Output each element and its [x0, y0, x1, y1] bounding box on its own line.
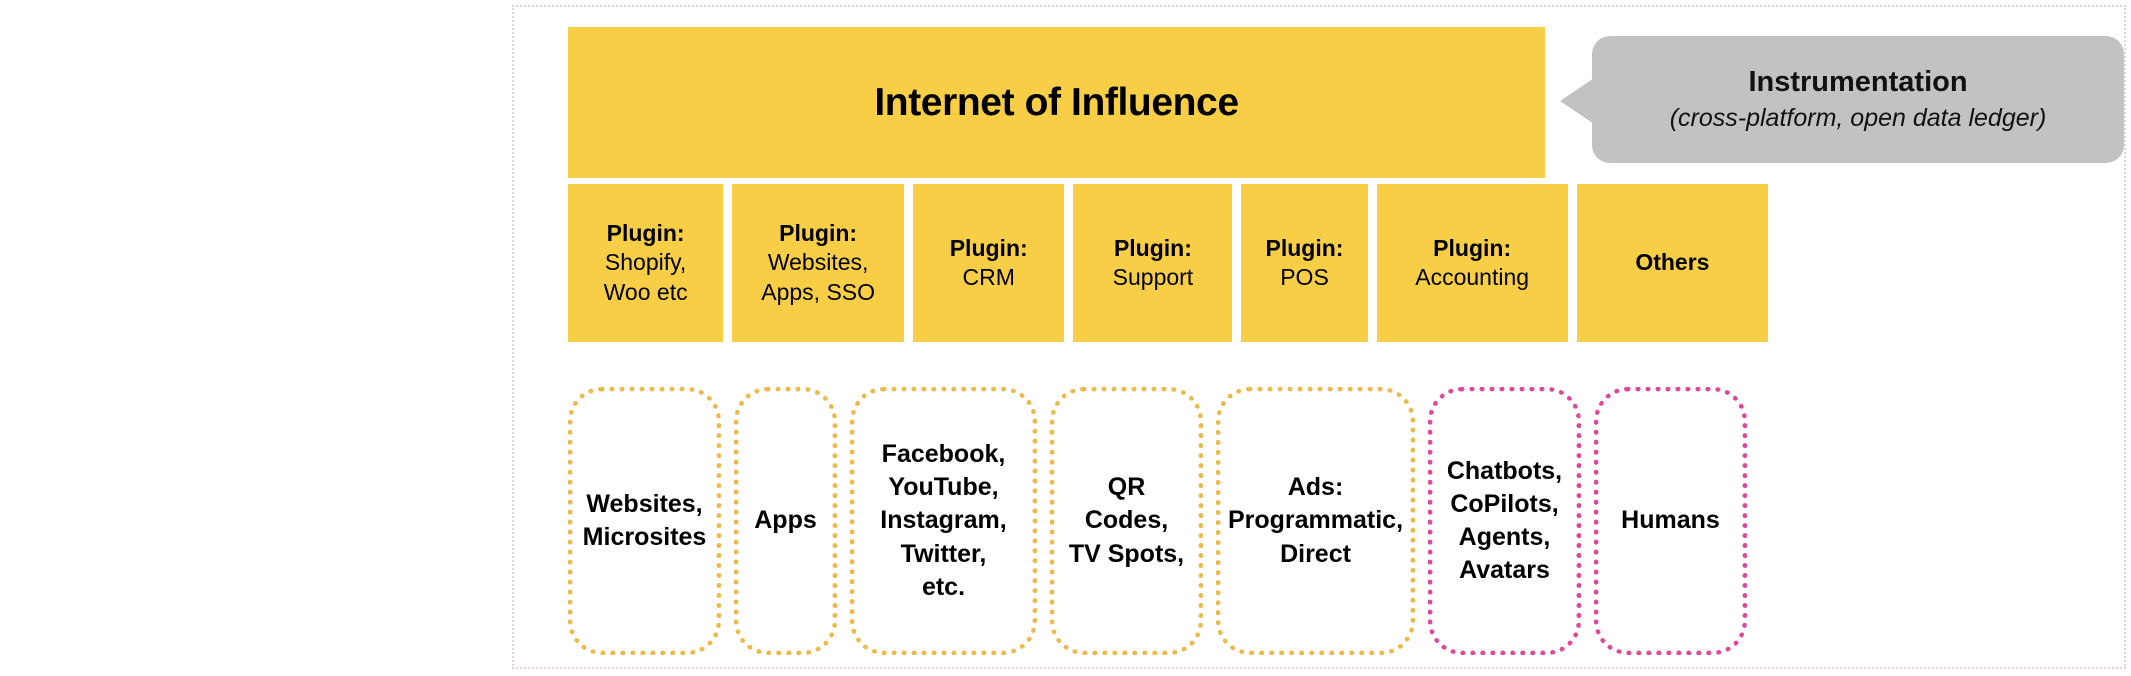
- plugin-card-shopify[interactable]: Plugin: Shopify, Woo etc: [568, 184, 723, 342]
- channel-card-humans[interactable]: Humans: [1594, 387, 1747, 655]
- plugin-card-detail: CRM: [962, 263, 1014, 292]
- channel-card-label: Humans: [1621, 504, 1720, 537]
- channel-card-label: Facebook, YouTube, Instagram, Twitter, e…: [880, 438, 1006, 604]
- plugin-card-kicker: Plugin:: [950, 234, 1028, 263]
- plugin-card-others[interactable]: Others: [1577, 184, 1768, 342]
- plugin-card-kicker: Plugin:: [1114, 234, 1192, 263]
- plugin-card-crm[interactable]: Plugin: CRM: [913, 184, 1064, 342]
- plugin-card-pos[interactable]: Plugin: POS: [1241, 184, 1367, 342]
- callout-body: Instrumentation (cross-platform, open da…: [1592, 36, 2124, 163]
- plugin-card-detail: Accounting: [1415, 263, 1529, 292]
- plugin-card-kicker: Plugin:: [607, 219, 685, 248]
- diagram-outer-frame: Internet of Influence Instrumentation (c…: [512, 5, 2126, 669]
- channel-card-label: Apps: [754, 504, 817, 537]
- channel-card-label: Ads: Programmatic, Direct: [1228, 471, 1403, 571]
- channel-card-apps[interactable]: Apps: [734, 387, 837, 655]
- callout-title: Instrumentation: [1748, 66, 1967, 99]
- page-title: Internet of Influence: [874, 83, 1238, 122]
- plugin-card-kicker: Plugin:: [1433, 234, 1511, 263]
- plugin-card-kicker: Plugin:: [779, 219, 857, 248]
- channel-card-label: QR Codes, TV Spots,: [1065, 471, 1188, 571]
- channel-card-label: Chatbots, CoPilots, Agents, Avatars: [1447, 455, 1562, 588]
- channel-card-qr-tv[interactable]: QR Codes, TV Spots,: [1050, 387, 1203, 655]
- channel-card-chatbots-agents[interactable]: Chatbots, CoPilots, Agents, Avatars: [1428, 387, 1581, 655]
- plugin-row: Plugin: Shopify, Woo etc Plugin: Website…: [568, 184, 1768, 342]
- channel-card-websites-microsites[interactable]: Websites, Microsites: [568, 387, 721, 655]
- plugin-card-kicker: Plugin:: [1266, 234, 1344, 263]
- internet-of-influence-banner: Internet of Influence: [568, 27, 1545, 178]
- plugin-card-support[interactable]: Plugin: Support: [1073, 184, 1232, 342]
- channel-card-ads[interactable]: Ads: Programmatic, Direct: [1216, 387, 1415, 655]
- plugin-card-kicker: Others: [1635, 248, 1709, 277]
- channel-card-label: Websites, Microsites: [583, 488, 707, 555]
- plugin-card-websites-apps-sso[interactable]: Plugin: Websites, Apps, SSO: [732, 184, 904, 342]
- plugin-card-detail: Shopify, Woo etc: [604, 248, 688, 307]
- plugin-card-accounting[interactable]: Plugin: Accounting: [1377, 184, 1568, 342]
- plugin-card-detail: Websites, Apps, SSO: [761, 248, 875, 307]
- plugin-card-detail: Support: [1113, 263, 1194, 292]
- hero-row: Internet of Influence Instrumentation (c…: [568, 27, 2124, 183]
- callout-subtitle: (cross-platform, open data ledger): [1670, 103, 2047, 133]
- plugin-card-detail: POS: [1280, 263, 1329, 292]
- channel-row: Websites, Microsites Apps Facebook, YouT…: [568, 387, 2128, 655]
- instrumentation-callout: Instrumentation (cross-platform, open da…: [1560, 36, 2124, 163]
- channel-card-social[interactable]: Facebook, YouTube, Instagram, Twitter, e…: [850, 387, 1037, 655]
